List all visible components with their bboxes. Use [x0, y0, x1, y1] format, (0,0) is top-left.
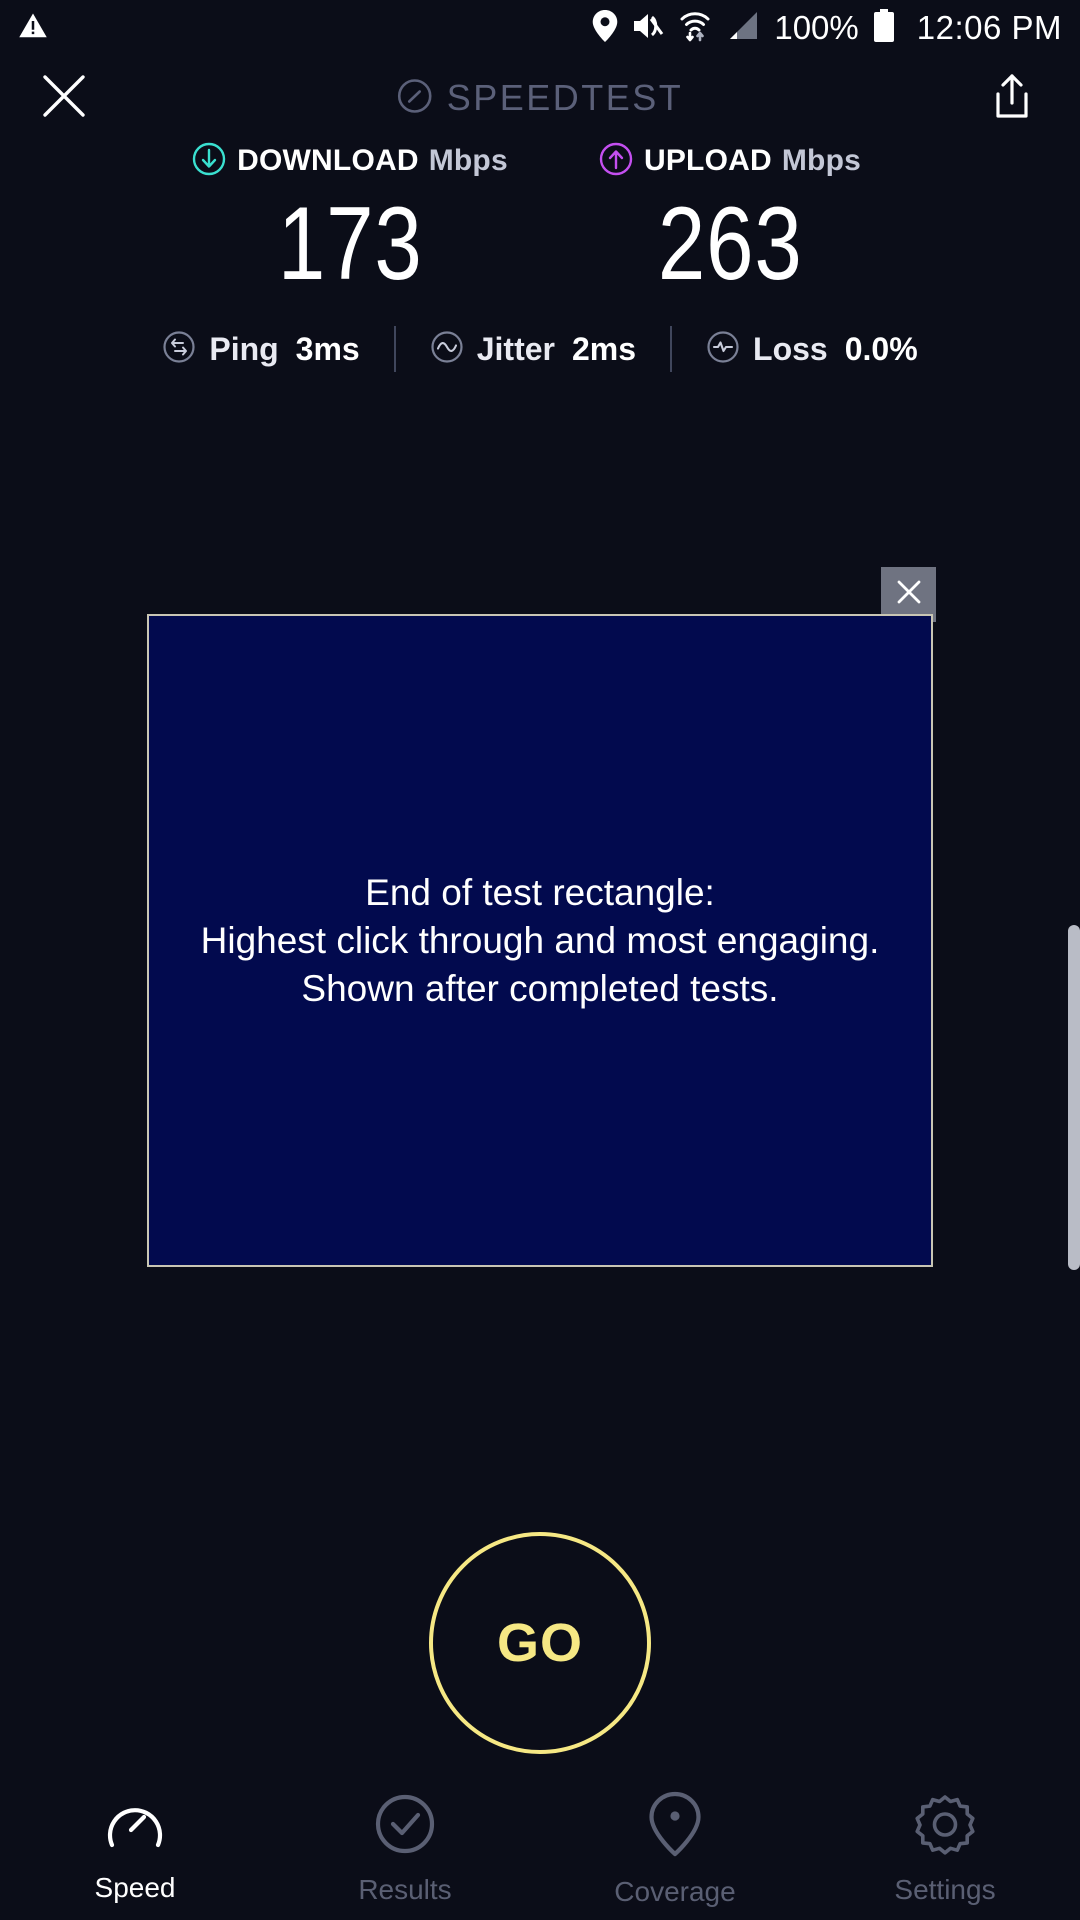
download-arrow-circle-icon: [192, 142, 226, 181]
brand-logo: SPEEDTEST: [397, 77, 684, 119]
close-icon: [41, 73, 87, 124]
wifi-transfer-icon: [678, 9, 712, 48]
close-button[interactable]: [36, 70, 92, 126]
share-button[interactable]: [986, 72, 1038, 124]
speedometer-icon: [397, 78, 433, 119]
nav-label-results: Results: [358, 1874, 451, 1906]
battery-percent-label: 100%: [774, 9, 858, 47]
jitter-circle-icon: [430, 330, 464, 369]
loss-circle-icon: [706, 330, 740, 369]
download-upload-row: DOWNLOAD Mbps 173 UPLOAD Mbps 263: [0, 140, 1080, 296]
download-unit: Mbps: [429, 144, 508, 178]
upload-label: UPLOAD: [644, 144, 772, 178]
loss-metric: Loss 0.0%: [672, 330, 952, 369]
cellular-signal-icon: [726, 11, 760, 46]
status-bar-right: 100% 12:06 PM: [592, 9, 1062, 48]
ad-text-line-3: Shown after completed tests.: [201, 965, 880, 1013]
bottom-navigation-bar: Speed Results Coverage: [0, 1778, 1080, 1920]
download-label: DOWNLOAD: [237, 144, 419, 178]
download-metric: DOWNLOAD Mbps 173: [160, 140, 540, 296]
upload-unit: Mbps: [782, 144, 861, 178]
ping-label: Ping: [209, 331, 278, 368]
jitter-label: Jitter: [477, 331, 555, 368]
location-pin-icon: [592, 10, 618, 47]
check-circle-icon: [374, 1793, 436, 1860]
nav-item-speed[interactable]: Speed: [0, 1778, 270, 1920]
jitter-value: 2ms: [572, 331, 636, 368]
download-header: DOWNLOAD Mbps: [192, 140, 508, 182]
loss-value: 0.0%: [845, 331, 918, 368]
map-pin-icon: [648, 1791, 702, 1862]
go-button-label: GO: [497, 1612, 583, 1674]
ping-metric: Ping 3ms: [128, 330, 393, 369]
ad-close-icon: [894, 577, 924, 612]
speedtest-app-screen: 100% 12:06 PM: [0, 0, 1080, 1920]
share-icon: [991, 72, 1033, 125]
nav-label-coverage: Coverage: [614, 1876, 735, 1908]
volume-mute-icon: [632, 11, 664, 46]
ad-text-line-1: End of test rectangle:: [201, 869, 880, 917]
status-bar-left: [18, 11, 48, 46]
nav-item-settings[interactable]: Settings: [810, 1778, 1080, 1920]
warning-triangle-icon: [18, 11, 48, 46]
upload-arrow-circle-icon: [599, 142, 633, 181]
loss-label: Loss: [753, 331, 828, 368]
test-results-summary: DOWNLOAD Mbps 173 UPLOAD Mbps 263: [0, 140, 1080, 372]
scrollbar-thumb[interactable]: [1068, 925, 1080, 1270]
android-status-bar: 100% 12:06 PM: [0, 0, 1080, 56]
speedometer-icon: [104, 1795, 166, 1858]
ping-circle-icon: [162, 330, 196, 369]
ping-jitter-loss-row: Ping 3ms Jitter 2ms: [0, 326, 1080, 372]
status-bar-clock: 12:06 PM: [917, 9, 1062, 47]
gear-icon: [914, 1793, 976, 1860]
download-value: 173: [278, 192, 423, 296]
ping-value: 3ms: [296, 331, 360, 368]
ad-text: End of test rectangle: Highest click thr…: [187, 869, 894, 1013]
battery-full-icon: [873, 9, 895, 48]
upload-header: UPLOAD Mbps: [599, 140, 861, 182]
upload-value: 263: [658, 192, 803, 296]
upload-metric: UPLOAD Mbps 263: [540, 140, 920, 296]
app-header: SPEEDTEST: [0, 56, 1080, 140]
ad-text-line-2: Highest click through and most engaging.: [201, 917, 880, 965]
nav-label-settings: Settings: [894, 1874, 995, 1906]
nav-item-results[interactable]: Results: [270, 1778, 540, 1920]
advertisement-banner[interactable]: End of test rectangle: Highest click thr…: [147, 614, 933, 1267]
nav-label-speed: Speed: [95, 1872, 176, 1904]
jitter-metric: Jitter 2ms: [396, 330, 670, 369]
brand-name: SPEEDTEST: [447, 77, 684, 119]
go-button[interactable]: GO: [429, 1532, 651, 1754]
nav-item-coverage[interactable]: Coverage: [540, 1778, 810, 1920]
